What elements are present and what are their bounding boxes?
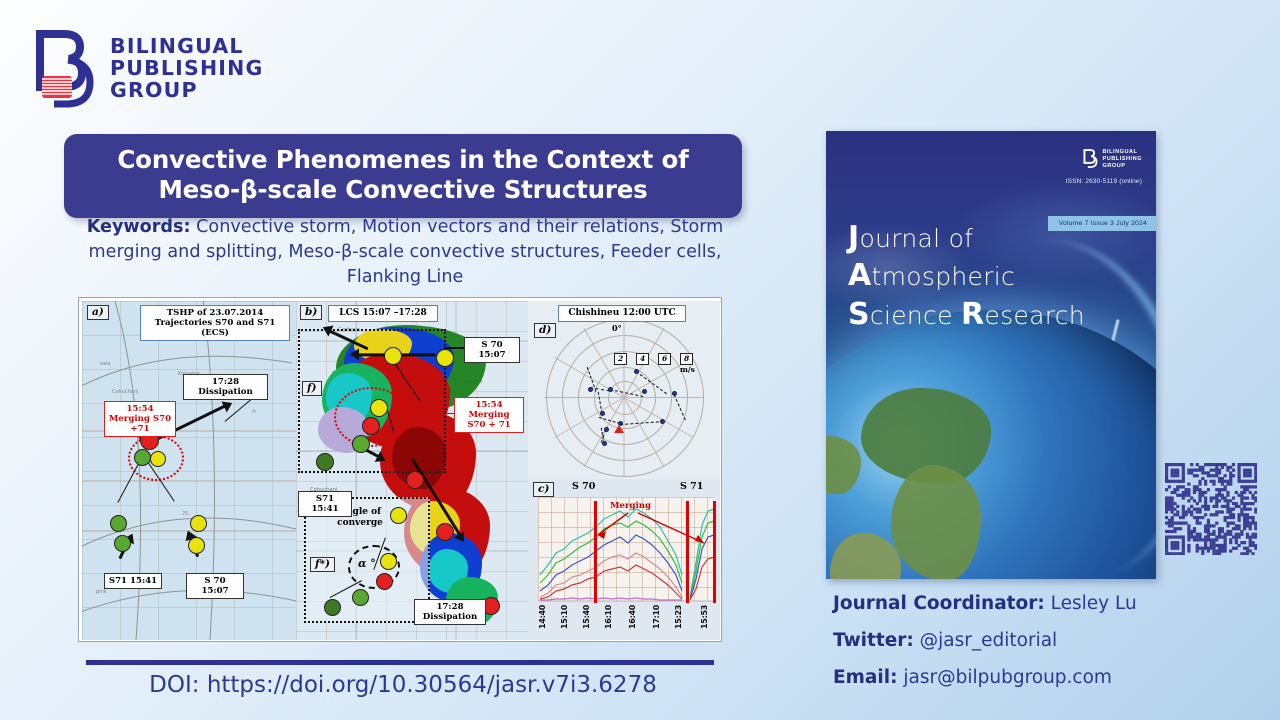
panel-b-marker-yellow-3 bbox=[370, 399, 388, 417]
cover-logo-line-3: GROUP bbox=[1103, 163, 1143, 170]
panel-a-marker-green-3 bbox=[114, 535, 131, 552]
article-title-line-2: Meso-β-scale Convective Structures bbox=[80, 175, 726, 205]
article-title-line-1: Convective Phenomenes in the Context of bbox=[80, 145, 726, 175]
panel-a-label: a) bbox=[87, 305, 109, 320]
panel-b-marker-green-1 bbox=[352, 435, 370, 453]
hodograph-scale-4: 4 bbox=[636, 353, 649, 365]
cover-logo-line-2: PUBLISHING bbox=[1103, 156, 1143, 163]
journal-cover: BILINGUAL PUBLISHING GROUP ISSN: 2630-51… bbox=[826, 131, 1156, 579]
cover-title: Journal of Atmospheric Science Research bbox=[848, 219, 1085, 334]
panel-c-xlabel-3: 16:10 bbox=[604, 605, 613, 629]
logo-line-1: BILINGUAL bbox=[110, 36, 264, 58]
hodograph-scale-2: 2 bbox=[614, 353, 627, 365]
panel-b-marker-red-2 bbox=[406, 471, 424, 489]
contact-email: Email: jasr@bilpubgroup.com bbox=[833, 659, 1253, 696]
cover-title-rest-4: esearch bbox=[984, 301, 1085, 330]
panel-a-marker-yellow-1 bbox=[150, 451, 166, 467]
hodograph-scale-unit: m/s bbox=[680, 365, 695, 374]
panel-f-label: f) bbox=[302, 381, 322, 396]
contact-twitter: Twitter: @jasr_editorial bbox=[833, 622, 1253, 659]
panel-b-marker-green-2 bbox=[316, 453, 334, 471]
panel-fstar-marker-green-2 bbox=[324, 599, 341, 616]
figure-panel-c: c) S 70 S 71 bbox=[528, 479, 720, 640]
cover-issn: ISSN: 2630-5119 (online) bbox=[1066, 178, 1142, 185]
panel-b-marker-red-3 bbox=[436, 523, 454, 541]
panel-fstar-marker-yellow-2 bbox=[380, 553, 397, 570]
panel-d-label: d) bbox=[534, 323, 556, 338]
svg-text:eala: eala bbox=[100, 361, 111, 367]
panel-a-merging-label: 15:54 Merging S70 +71 bbox=[104, 401, 176, 437]
panel-a-title: TSHP of 23.07.2014 Trajectories S70 and … bbox=[140, 305, 290, 341]
keywords-label: Keywords: bbox=[87, 217, 191, 237]
cover-title-cap-r: R bbox=[961, 297, 984, 332]
contact-coordinator-label: Journal Coordinator: bbox=[833, 593, 1045, 614]
panel-b-label: b) bbox=[300, 305, 322, 320]
panel-a-s71-label: S71 15:41 bbox=[104, 573, 162, 589]
panel-fstar-marker-green-1 bbox=[352, 589, 369, 606]
panel-c-xlabel-0: 14:40 bbox=[538, 605, 547, 629]
panel-b-marker-yellow-1 bbox=[384, 347, 402, 365]
svg-text:25.: 25. bbox=[182, 511, 190, 517]
hodograph-scale-6: 6 bbox=[658, 353, 671, 365]
figure-panel-d: Chishineu 12:00 UTC d) 0° 2 4 6 8 m/s bbox=[528, 301, 720, 479]
cover-logo: BILINGUAL PUBLISHING GROUP bbox=[1083, 149, 1143, 170]
panel-c-xlabel-4: 16:40 bbox=[628, 605, 637, 629]
contact-coordinator: Journal Coordinator: Lesley Lu bbox=[833, 585, 1253, 622]
cover-title-cap-s: S bbox=[848, 297, 870, 332]
panel-a-marker-green-1 bbox=[134, 449, 151, 466]
cover-title-cap-j: J bbox=[848, 220, 859, 255]
contact-twitter-value[interactable]: @jasr_editorial bbox=[914, 630, 1057, 651]
panel-a-dissipation-label: 17:28 Dissipation bbox=[183, 374, 268, 400]
svg-text:rt: rt bbox=[252, 409, 256, 415]
panel-b-marker-yellow-2 bbox=[436, 349, 454, 367]
article-title-banner: Convective Phenomenes in the Context of … bbox=[64, 134, 742, 218]
panel-fstar-label: f*) bbox=[310, 557, 335, 572]
contact-coordinator-value: Lesley Lu bbox=[1045, 593, 1137, 614]
panel-b-marker-red-1 bbox=[362, 417, 380, 435]
contact-block: Journal Coordinator: Lesley Lu Twitter: … bbox=[833, 585, 1253, 696]
panel-c-xlabel-7: 15:53 bbox=[700, 605, 709, 629]
keywords-block: Keywords: Convective storm, Motion vecto… bbox=[60, 215, 750, 290]
panel-b-dissipation-label: 17:28 Dissipation bbox=[414, 599, 486, 625]
panel-a-marker-yellow-2 bbox=[190, 515, 207, 532]
panel-c-xlabel-1: 15:10 bbox=[560, 605, 569, 629]
bpg-logo-icon bbox=[34, 30, 96, 108]
panel-c-xlabel-6: 15:23 bbox=[674, 605, 683, 629]
logo-line-2: PUBLISHING bbox=[110, 58, 264, 80]
cover-title-rest-2: tmospheric bbox=[872, 262, 1016, 291]
panel-a-marker-green-2 bbox=[110, 515, 127, 532]
contact-twitter-label: Twitter: bbox=[833, 630, 914, 651]
cover-title-rest-3: cience bbox=[870, 301, 961, 330]
panel-a-marker-yellow-3 bbox=[188, 537, 205, 554]
doi-divider bbox=[86, 660, 714, 665]
cover-logo-line-1: BILINGUAL bbox=[1103, 149, 1143, 156]
svg-text:Cohuchani: Cohuchani bbox=[112, 389, 138, 395]
panel-c-xlabel-2: 15:40 bbox=[582, 605, 591, 629]
cover-title-rest-1: ournal of bbox=[859, 224, 973, 253]
panel-b-s71-label: S71 15:41 bbox=[298, 491, 352, 517]
panel-fstar-marker-red-1 bbox=[376, 573, 393, 590]
hodograph-scale-8: 8 bbox=[680, 353, 693, 365]
contact-email-label: Email: bbox=[833, 667, 897, 688]
article-figure: a) ealaKomatse Cohuchanirt pink25. bbox=[78, 297, 722, 642]
brand-logo: BILINGUAL PUBLISHING GROUP bbox=[34, 30, 264, 108]
panel-fstar-marker-yellow-1 bbox=[390, 507, 407, 524]
panel-b-title: LCS 15:07 –17:28 bbox=[328, 305, 438, 322]
figure-panel-b: b) LCS 15:07 –17:28 GarbovaTodiresti Flu… bbox=[296, 301, 528, 640]
panel-c-label: c) bbox=[533, 482, 554, 497]
contact-email-value[interactable]: jasr@bilpubgroup.com bbox=[897, 667, 1111, 688]
panel-b-s70-label: S 70 15:07 bbox=[464, 337, 520, 363]
qr-code[interactable] bbox=[1165, 463, 1257, 555]
panel-a-s70-label: S 70 15:07 bbox=[186, 573, 244, 599]
doi-link[interactable]: DOI: https://doi.org/10.30564/jasr.v7i3.… bbox=[78, 672, 728, 698]
panel-d-title: Chishineu 12:00 UTC bbox=[558, 305, 686, 322]
panel-b-merging-label: 15:54 Merging S70 + 71 bbox=[454, 397, 524, 433]
figure-panel-a: a) ealaKomatse Cohuchanirt pink25. bbox=[82, 301, 296, 640]
panel-c-xlabel-5: 17:10 bbox=[652, 605, 661, 629]
cover-title-cap-a: A bbox=[848, 258, 872, 293]
svg-text:pink: pink bbox=[96, 589, 107, 595]
logo-line-3: GROUP bbox=[110, 80, 264, 102]
